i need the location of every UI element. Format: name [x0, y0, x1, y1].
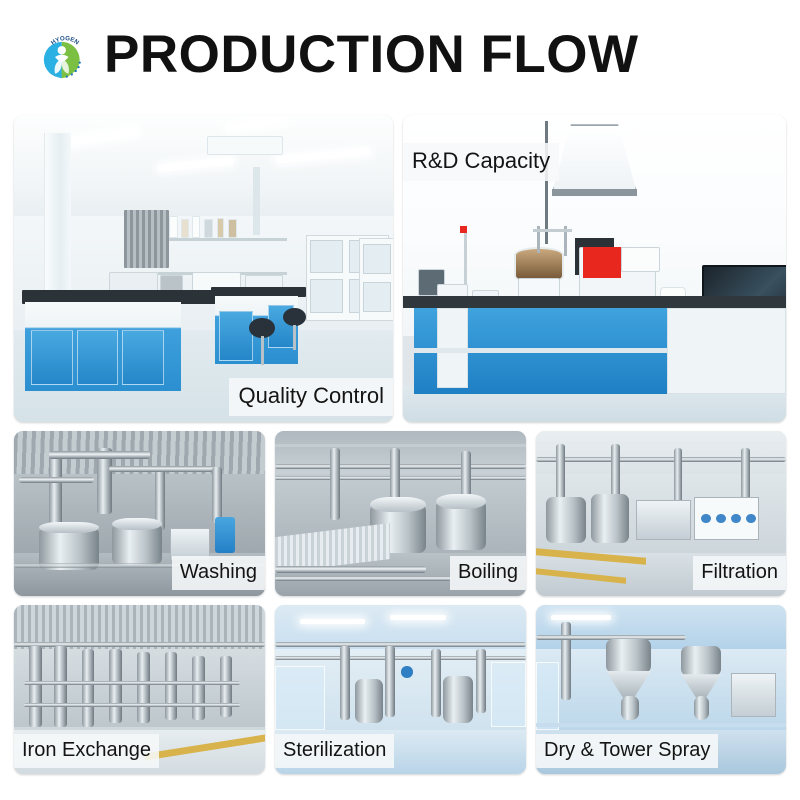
page-header: HYOGEN PRODUCTION FLOW: [0, 0, 800, 108]
grid-row-3: Iron Exchange: [14, 605, 786, 774]
panel-iron-exchange[interactable]: Iron Exchange: [14, 605, 265, 774]
logo-svg: HYOGEN: [36, 29, 92, 85]
panel-washing[interactable]: Washing: [14, 431, 265, 596]
panel-caption-sterilization: Sterilization: [275, 734, 394, 768]
panel-caption-filtration: Filtration: [693, 556, 786, 590]
hyogen-leaf-logo: HYOGEN: [36, 29, 92, 85]
production-flow-grid: Quality Control: [14, 115, 786, 773]
grid-row-1: Quality Control: [14, 115, 786, 422]
panel-caption-boiling: Boiling: [450, 556, 526, 590]
panel-filtration[interactable]: Filtration: [536, 431, 786, 596]
panel-caption-rd-capacity: R&D Capacity: [403, 143, 559, 181]
panel-caption-washing: Washing: [172, 556, 265, 590]
panel-sterilization[interactable]: Sterilization: [275, 605, 526, 774]
panel-quality-control[interactable]: Quality Control: [14, 115, 393, 422]
page-title: PRODUCTION FLOW: [104, 28, 639, 81]
grid-row-2: Washing: [14, 431, 786, 596]
panel-caption-iron-exchange: Iron Exchange: [14, 734, 159, 768]
panel-rd-capacity[interactable]: R&D Capacity: [403, 115, 786, 422]
production-flow-page: HYOGEN PRODUCTION FLOW: [0, 0, 800, 800]
panel-caption-quality-control: Quality Control: [229, 378, 393, 416]
panel-boiling[interactable]: Boiling: [275, 431, 526, 596]
panel-dry-tower-spray[interactable]: Dry & Tower Spray: [536, 605, 786, 774]
panel-caption-dry-tower-spray: Dry & Tower Spray: [536, 734, 718, 768]
quality-control-scene: [14, 115, 393, 422]
